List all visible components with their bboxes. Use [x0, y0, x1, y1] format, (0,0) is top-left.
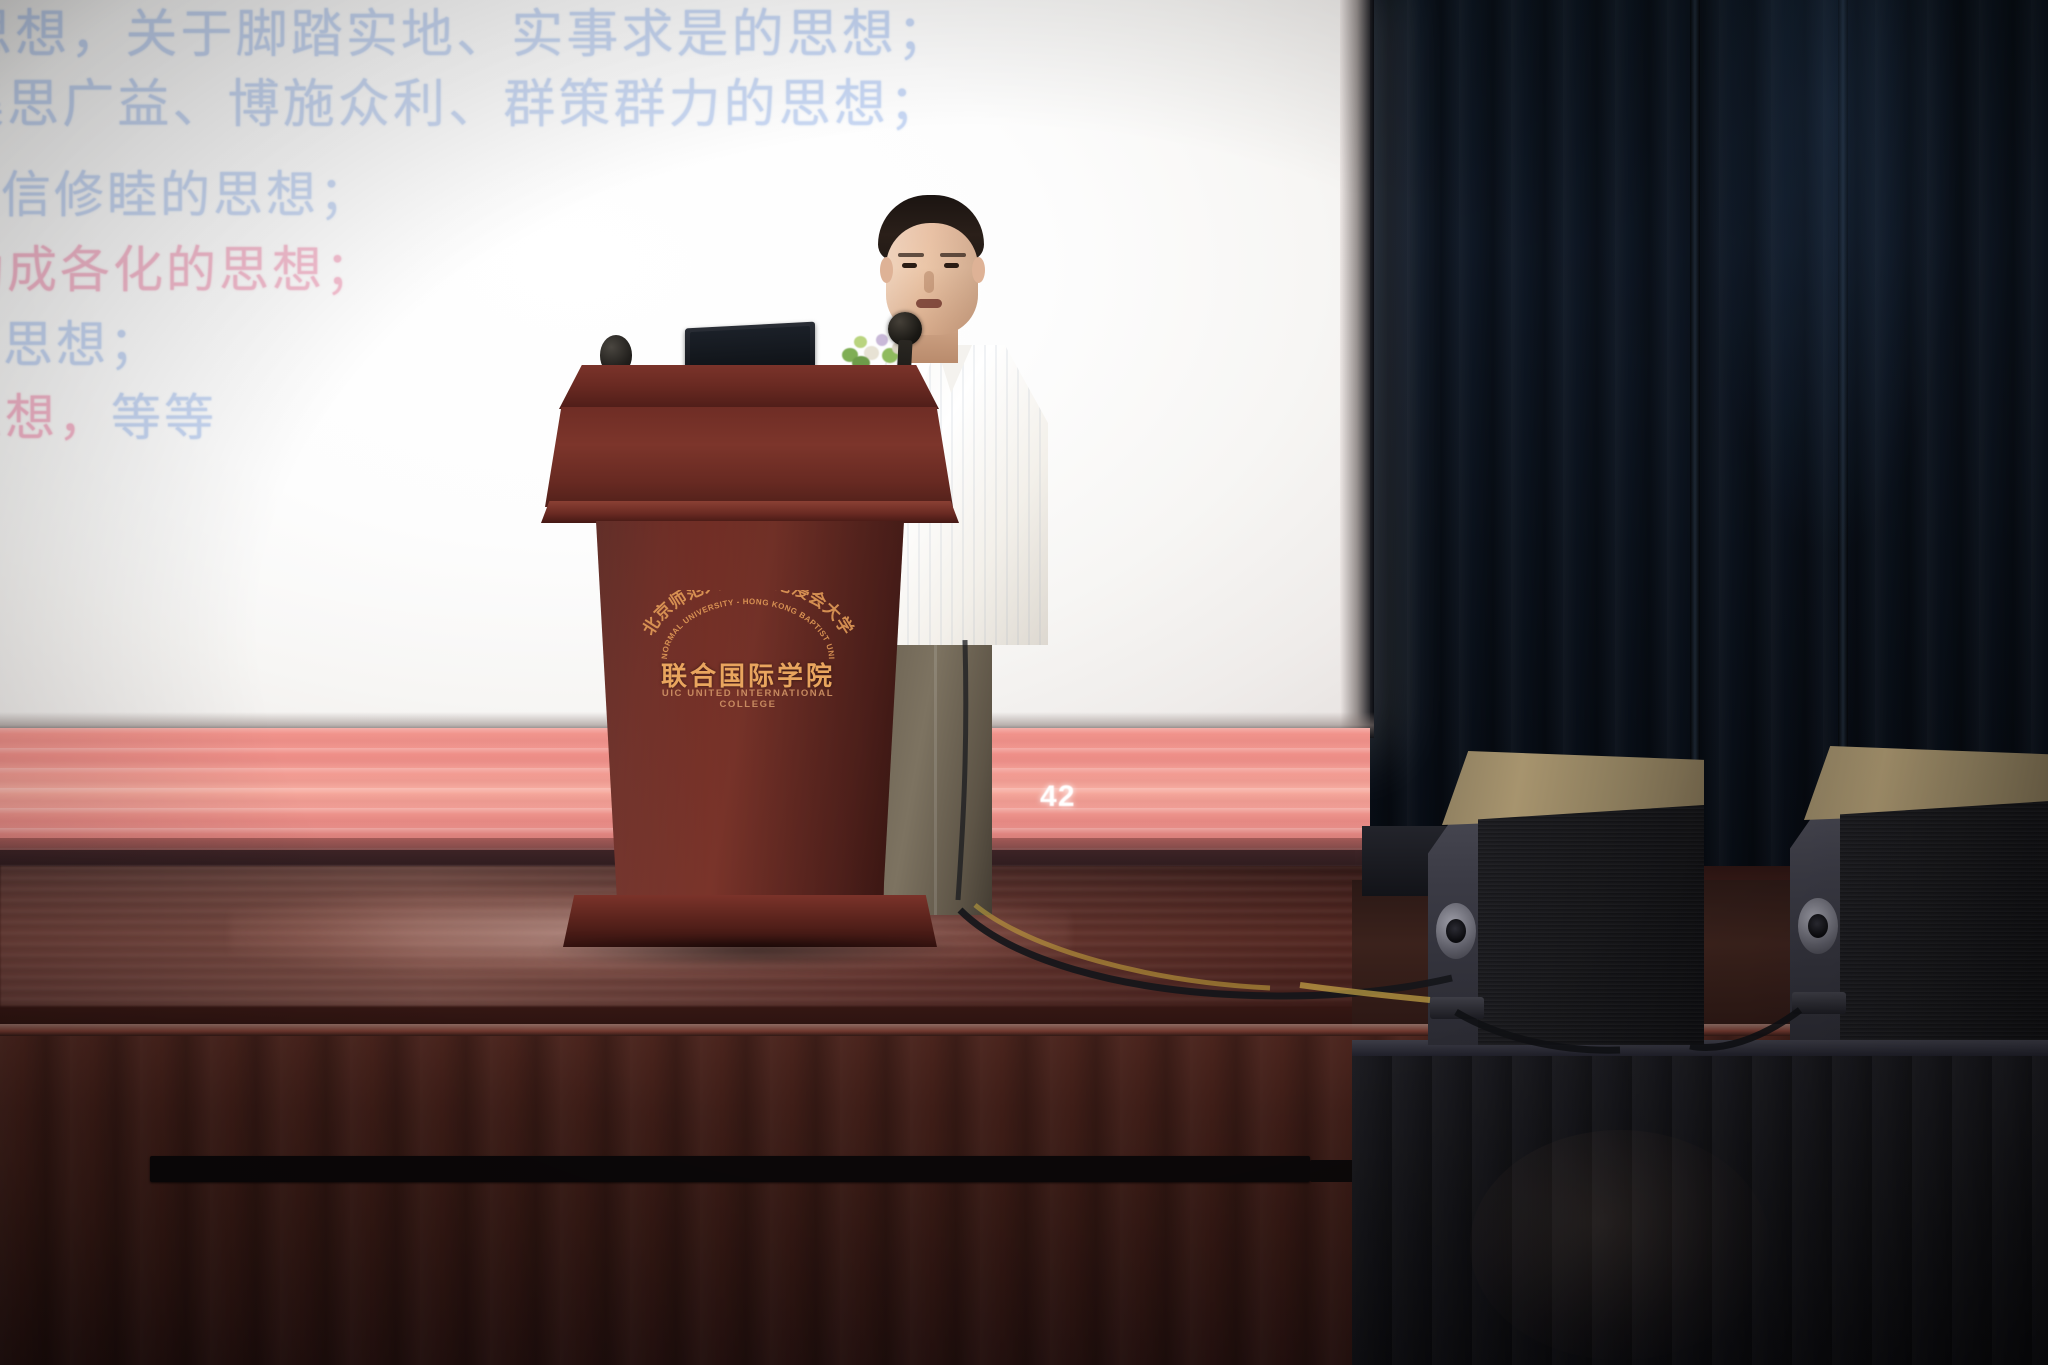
- podium-lip: [541, 501, 959, 523]
- slide-text-line-1: 思想，关于脚踏实地、实事求是的思想；: [0, 0, 952, 67]
- screen-right-edge: [1340, 0, 1374, 735]
- podium-body-shading: [575, 521, 925, 901]
- presenter-eye-right: [944, 263, 959, 268]
- podium-floor-shadow: [545, 940, 965, 970]
- presenter-brow-right: [940, 253, 966, 257]
- monitor-cable-plug: [1430, 997, 1484, 1019]
- photograph-scene: 思想，关于脚踏实地、实事求是的思想； 集思广益、博施众利、群策群力的思想； 讲信…: [0, 0, 2048, 1365]
- podium-top-surface: [559, 365, 939, 409]
- stage-monitor-speaker-right: [1790, 740, 2048, 1040]
- curtain-seam: [1690, 0, 1700, 870]
- slide-text-line-6: 思想，等等: [0, 378, 217, 450]
- presenter-ear-right: [972, 257, 985, 283]
- slide-text-line-6-blue: 等等: [111, 389, 217, 447]
- monitor-cable-plug: [1792, 992, 1846, 1014]
- monitor-jack-hole: [1808, 914, 1828, 938]
- monitor-grille: [1478, 805, 1704, 1045]
- slide-text-line-4: 助成各化的思想；: [0, 230, 378, 302]
- presenter-eye-left: [902, 263, 917, 268]
- monitor-jack-hole: [1446, 919, 1466, 943]
- slide-text-line-5: 的思想；: [0, 305, 162, 377]
- podium-slanted-front: [545, 407, 953, 507]
- uic-podium-logo: 北京师范大学－香港浸会大学 BEIJING NORMAL UNIVERSITY …: [633, 590, 863, 710]
- presenter-nose: [924, 271, 934, 293]
- curtain-light-glow: [1700, 0, 1960, 560]
- cabinet-speaker-cone: [1470, 1130, 1770, 1360]
- stage-monitor-speaker-left: [1428, 745, 1708, 1045]
- slide-page-number: 42: [1040, 780, 1076, 814]
- presenter-ear-left: [880, 257, 893, 283]
- wooden-podium: 北京师范大学－香港浸会大学 BEIJING NORMAL UNIVERSITY …: [545, 365, 965, 985]
- monitor-grille: [1840, 800, 2048, 1040]
- logo-arc-svg: 北京师范大学－香港浸会大学 BEIJING NORMAL UNIVERSITY …: [633, 590, 863, 662]
- slide-text-line-3: 讲信修睦的思想；: [0, 155, 372, 227]
- stage-front-vent-slot: [150, 1156, 1310, 1182]
- logo-name-english: UIC UNITED INTERNATIONAL COLLEGE: [633, 688, 863, 710]
- slide-text-line-6-pink: 思想，: [0, 389, 111, 447]
- presenter-mouth: [916, 299, 942, 308]
- slide-text-line-2: 集思广益、博施众利、群策群力的思想；: [0, 62, 944, 137]
- presenter-brow-left: [898, 253, 924, 257]
